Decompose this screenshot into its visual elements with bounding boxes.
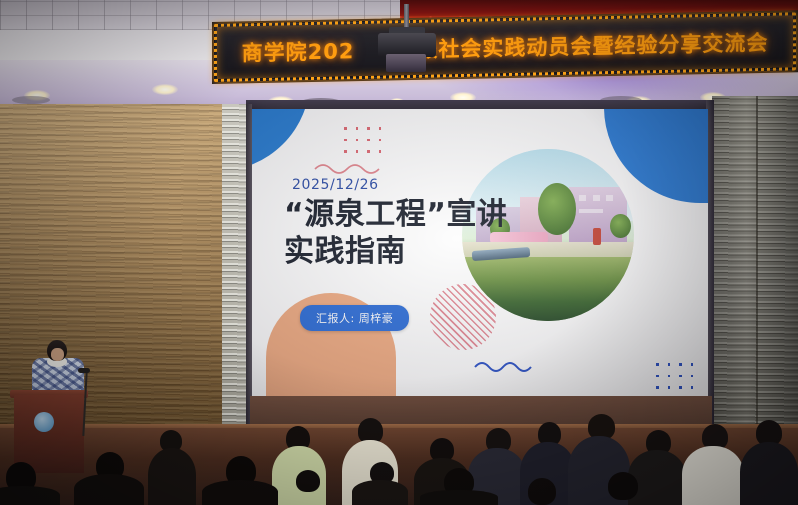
screen-frame-top <box>246 100 714 109</box>
audience-body <box>352 480 408 505</box>
decor-wave-pink <box>314 161 380 175</box>
wall-panel-right <box>712 96 798 441</box>
slide-title: “源泉工程”宣讲 实践指南 <box>284 197 584 270</box>
speaker-face <box>51 348 64 361</box>
audience-body <box>740 442 798 505</box>
decor-stripe-circle-pink <box>430 284 496 350</box>
slide-date: 2025/12/26 <box>292 177 379 193</box>
audience-body <box>628 450 686 505</box>
audience-body-foreground <box>202 480 278 505</box>
audience-body <box>148 448 196 505</box>
wall-right-divider <box>756 96 758 441</box>
auditorium-photo: 商学院202 假社会实践动员会暨经验分享交流会 <box>0 0 798 505</box>
downlight-1 <box>152 84 178 95</box>
microphone-head <box>78 368 90 373</box>
podium <box>14 395 84 473</box>
decor-quarter-circle-top-left <box>252 109 310 171</box>
audience-head <box>296 470 320 492</box>
banner-text-right: 假社会实践动员会暨经验分享交流会 <box>416 27 768 64</box>
audience-body-white-jacket <box>682 446 744 505</box>
audience-body-foreground <box>0 486 60 505</box>
projector-lens <box>386 54 426 72</box>
led-banner-text: 商学院202 假社会实践动员会暨经验分享交流会 <box>212 10 798 84</box>
led-banner: 商学院202 假社会实践动员会暨经验分享交流会 <box>212 10 798 84</box>
slide-title-line-1: “源泉工程”宣讲 <box>284 197 507 232</box>
decor-dot-grid-blue <box>656 363 693 389</box>
decor-wave-blue <box>474 359 536 373</box>
audience-head-foreground <box>608 472 638 500</box>
audience-head-foreground <box>528 478 556 505</box>
decor-dot-grid-red <box>344 127 381 153</box>
audience-body-foreground <box>420 490 498 505</box>
ceiling-vent-3 <box>12 96 50 104</box>
projection-slide: 2025/12/26 “源泉工程”宣讲 实践指南 汇报人: 周梓豪 <box>252 109 708 397</box>
slide-title-line-2: 实践指南 <box>284 234 584 271</box>
audience-body-foreground <box>74 474 144 505</box>
photo-tree-right <box>610 214 631 238</box>
slide-presenter-badge: 汇报人: 周梓豪 <box>300 305 409 331</box>
photo-window-3 <box>606 195 613 200</box>
photo-window-2 <box>593 195 600 200</box>
photo-red-sculpture <box>593 228 602 245</box>
podium-emblem <box>34 412 54 432</box>
